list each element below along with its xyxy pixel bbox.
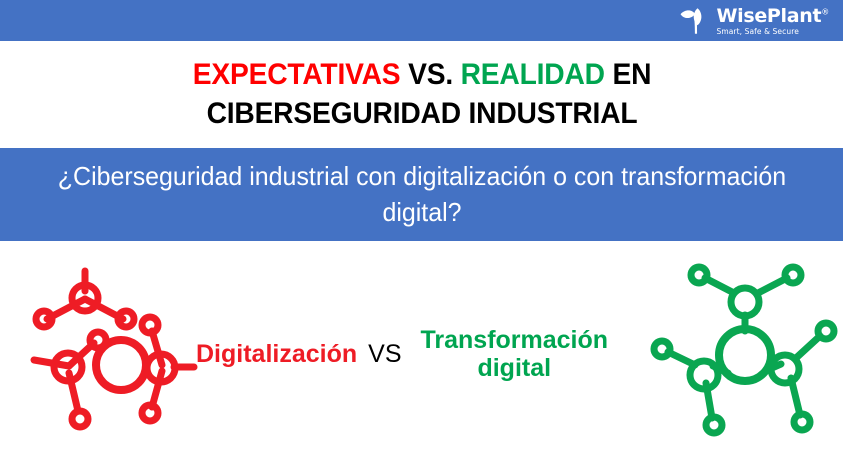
- title-part-realidad: REALIDAD: [460, 58, 604, 91]
- title-part-vs: VS.: [400, 58, 460, 91]
- registered-mark: ®: [821, 7, 829, 16]
- fragmented-network-icon: [22, 261, 207, 451]
- slide-root: WisePlant® Smart, Safe & Secure EXPECTAT…: [0, 0, 843, 471]
- title-part-expectativas: EXPECTATIVAS: [192, 58, 400, 91]
- label-transformacion-digital: Transformación digital: [421, 326, 609, 382]
- comparison-area: Digitalización VS Transformación digital: [0, 241, 843, 471]
- subtitle-band: ¿Ciberseguridad industrial con digitaliz…: [0, 148, 843, 241]
- subtitle-text: ¿Ciberseguridad industrial con digitaliz…: [47, 159, 796, 229]
- logo-text-wrap: WisePlant® Smart, Safe & Secure: [716, 7, 829, 36]
- label-digitalizacion: Digitalización: [196, 340, 357, 369]
- wiseplant-logo: WisePlant® Smart, Safe & Secure: [678, 3, 829, 39]
- connected-network-icon: [648, 253, 843, 453]
- label-transformacion-line1: Transformación: [421, 326, 609, 354]
- plant-leaf-logo-icon: [678, 4, 712, 38]
- logo-name-text: WisePlant: [716, 5, 821, 27]
- label-vs: VS: [368, 340, 401, 369]
- logo-tagline: Smart, Safe & Secure: [716, 28, 829, 36]
- page-title: EXPECTATIVAS VS. REALIDAD EN CIBERSEGURI…: [78, 56, 764, 133]
- title-area: EXPECTATIVAS VS. REALIDAD EN CIBERSEGURI…: [0, 41, 843, 148]
- label-transformacion-line2: digital: [421, 354, 609, 382]
- comparison-labels: Digitalización VS Transformación digital: [196, 326, 656, 382]
- header-band: WisePlant® Smart, Safe & Secure: [0, 0, 843, 41]
- logo-name: WisePlant®: [716, 7, 829, 26]
